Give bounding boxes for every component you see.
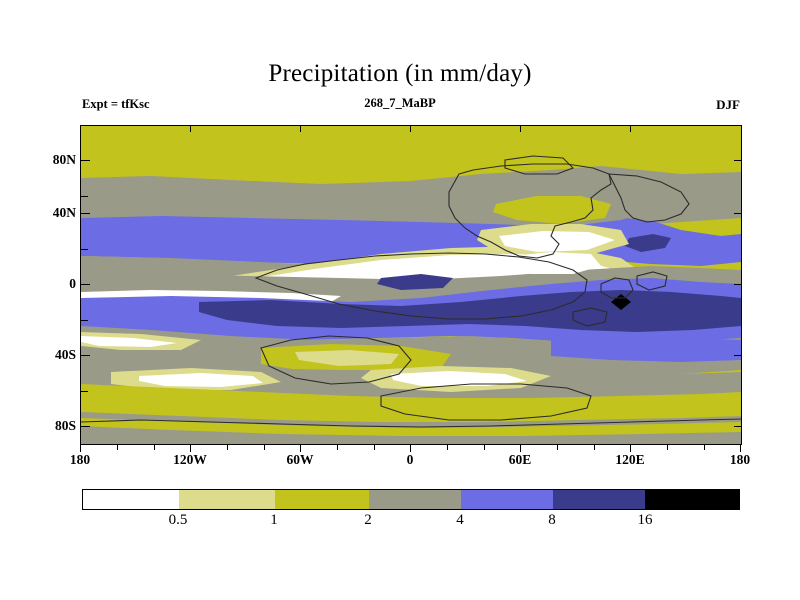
x-tick-mark [227,444,228,450]
x-tick-label-180w: 180 [70,452,90,468]
colorbar-tick-16: 16 [638,512,653,529]
x-tick-mark [447,444,448,450]
y-tick-mark [81,355,90,356]
season-label: DJF [716,97,740,113]
y-tick-mark [81,320,88,321]
colorbar-tick-8: 8 [548,512,556,529]
x-tick-mark [520,444,521,452]
colorbar-tick-2: 2 [364,512,372,529]
x-tick-label-60w: 60W [287,452,314,468]
x-tick-mark [300,444,301,452]
x-tick-label-60e: 60E [509,452,532,468]
y-tick-mark-right [734,355,741,356]
y-tick-label-0: 0 [16,276,76,292]
x-tick-mark [337,444,338,450]
y-tick-mark [81,249,88,250]
y-tick-label-40n: 40N [16,205,76,221]
x-tick-mark-top [410,126,411,132]
x-tick-mark [704,444,705,450]
x-tick-label-180e: 180 [730,452,750,468]
x-tick-mark-top [190,126,191,132]
x-tick-mark [667,444,668,450]
page-title: Precipitation (in mm/day) [0,60,800,88]
colorbar-band-4-8 [461,490,553,509]
x-tick-label-120w: 120W [173,452,207,468]
x-tick-mark [740,444,741,452]
x-tick-mark [630,444,631,452]
x-tick-label-120e: 120E [615,452,644,468]
colorbar-band-lt-0.5 [83,490,179,509]
colorbar-band-8-16 [553,490,645,509]
colorbar [82,489,740,510]
contour-fill-canvas [81,126,741,444]
colorbar-band-1-2 [275,490,369,509]
y-tick-label-40s: 40S [16,347,76,363]
x-tick-mark [190,444,191,452]
y-tick-mark [81,213,90,214]
x-tick-label-0: 0 [407,452,414,468]
x-tick-mark-top [630,126,631,132]
y-tick-label-80n: 80N [16,152,76,168]
y-tick-mark-right [734,426,741,427]
y-tick-mark [81,284,90,285]
y-tick-mark [81,160,90,161]
colorbar-band-2-4 [369,490,461,509]
x-tick-mark [484,444,485,450]
experiment-label: Expt = tfKsc [82,97,150,112]
x-tick-mark [557,444,558,450]
x-tick-mark [594,444,595,450]
x-tick-mark [80,444,81,452]
colorbar-tick-1: 1 [270,512,278,529]
y-tick-mark [81,426,90,427]
x-tick-mark-top [520,126,521,132]
y-tick-mark [81,391,88,392]
y-tick-mark-right [734,160,741,161]
colorbar-tick-0.5: 0.5 [169,512,188,529]
precipitation-map [80,125,742,445]
x-tick-mark [117,444,118,450]
colorbar-tick-4: 4 [456,512,464,529]
y-tick-mark-right [734,284,741,285]
colorbar-band-gt-16 [645,490,739,509]
y-tick-mark-right [734,213,741,214]
x-tick-mark [374,444,375,450]
colorbar-band-0.5-1 [179,490,275,509]
x-tick-mark [264,444,265,450]
x-tick-mark-top [300,126,301,132]
y-tick-label-80s: 80S [16,418,76,434]
x-tick-mark [410,444,411,452]
y-tick-mark [81,196,88,197]
x-tick-mark [154,444,155,450]
